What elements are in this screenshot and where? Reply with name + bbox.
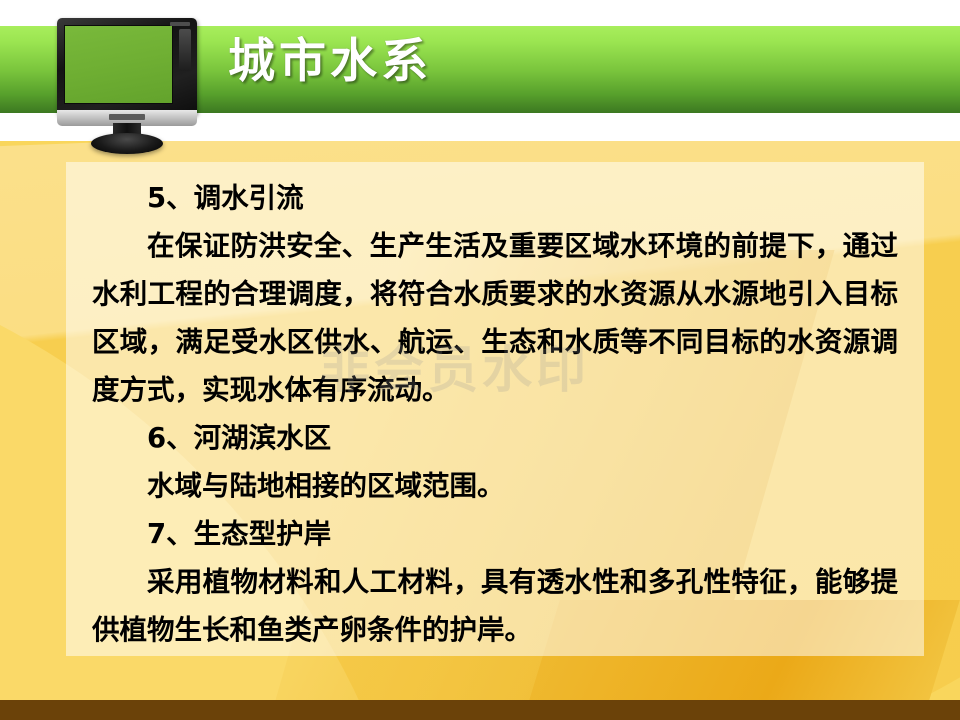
paragraph-item6-heading: 6、河湖滨水区	[92, 414, 898, 462]
content-panel: 5、调水引流 在保证防洪安全、生产生活及重要区域水环境的前提下，通过水利工程的合…	[66, 162, 924, 656]
slide-canvas: 城市水系 5、调水引流 在保证防洪安全、生产生活及重要区域水环境的前提下，通过水…	[0, 0, 960, 720]
monitor-screen	[64, 25, 173, 104]
monitor-bezel	[57, 18, 197, 116]
paragraph-item5-heading: 5、调水引流	[92, 174, 898, 222]
monitor-top-label	[170, 22, 190, 26]
monitor-buttons-icon	[179, 29, 191, 71]
paragraph-item7-heading: 7、生态型护岸	[92, 510, 898, 558]
background-bottom-bar	[0, 700, 960, 720]
paragraph-item5-body: 在保证防洪安全、生产生活及重要区域水环境的前提下，通过水利工程的合理调度，将符合…	[92, 222, 898, 414]
lcd-monitor-icon	[57, 18, 201, 146]
monitor-brand-logo	[109, 114, 145, 120]
paragraph-item7-body: 采用植物材料和人工材料，具有透水性和多孔性特征，能够提供植物生长和鱼类产卵条件的…	[92, 558, 898, 654]
monitor-stand-base	[91, 133, 163, 154]
paragraph-item6-body: 水域与陆地相接的区域范围。	[92, 462, 898, 510]
content-body: 5、调水引流 在保证防洪安全、生产生活及重要区域水环境的前提下，通过水利工程的合…	[66, 162, 924, 656]
slide-title: 城市水系	[228, 38, 432, 85]
